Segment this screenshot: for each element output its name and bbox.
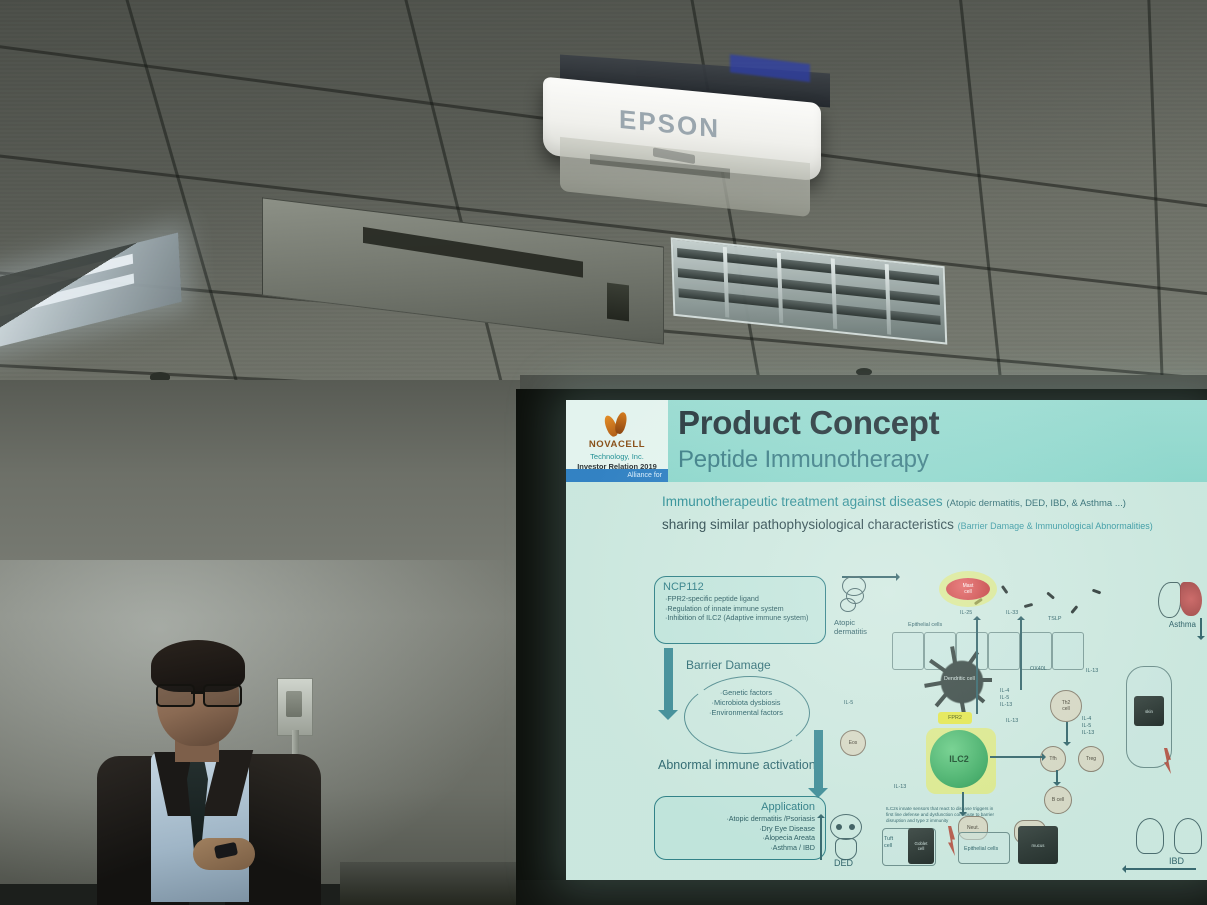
abnormal-activation-label: Abnormal immune activation xyxy=(658,758,816,772)
application-box: Application ·Atopic dermatitis /Psoriasi… xyxy=(654,796,826,860)
slide-title: Product Concept xyxy=(678,404,939,442)
novacell-leaf-icon xyxy=(604,412,630,438)
lead-line2-note: (Barrier Damage & Immunological Abnormal… xyxy=(958,521,1153,531)
brand-name: NOVACELL xyxy=(589,439,645,450)
asthma-arrow xyxy=(1200,618,1202,638)
mast-cell-node: Mastcell xyxy=(946,578,990,600)
tissue-dark-cell: skin xyxy=(1134,696,1164,726)
conference-room-photo: EPSON NOVACELL xyxy=(0,0,1207,905)
ibd-gut-icon xyxy=(1174,818,1202,854)
application-item: ·Alopecia Areata xyxy=(655,833,825,843)
lead-line1-main: Immunotherapeutic treatment against dise… xyxy=(662,494,946,509)
ibd-gut-icon xyxy=(1136,818,1164,854)
board-edge xyxy=(340,862,530,905)
disease-label-asthma: Asthma xyxy=(1169,620,1196,629)
b-cell-node: B cell xyxy=(1044,786,1072,814)
ded-arrow xyxy=(820,816,822,860)
connector xyxy=(1020,618,1022,690)
duct-knob xyxy=(607,283,629,322)
disease-label-atopic-dermatitis: Atopic dermatitis xyxy=(834,618,888,636)
eyeglasses-icon xyxy=(156,684,242,703)
slide-subtitle: Peptide Immunotherapy xyxy=(678,446,929,474)
diagram-caption: ILC2s innate sensors that react to disea… xyxy=(886,806,998,825)
projector-vent xyxy=(590,154,730,179)
ncp112-title: NCP112 xyxy=(655,577,825,594)
screen-bottom-bar xyxy=(516,880,1207,905)
atopic-dermatitis-icon xyxy=(836,574,874,616)
ncp112-item: ·Inhibition of ILC2 (Adaptive immune sys… xyxy=(655,613,825,623)
ded-face-icon xyxy=(828,814,862,858)
cycle-item: ·Environmental factors xyxy=(694,708,798,718)
application-title: Application xyxy=(655,797,825,814)
application-item: ·Atopic dermatitis /Psoriasis xyxy=(655,814,825,824)
slide-lead-text: Immunotherapeutic treatment against dise… xyxy=(662,492,1202,536)
ilc2-cell-node: ILC2 xyxy=(930,730,988,788)
ncp112-box: NCP112 ·FPR2-specific peptide ligand ·Re… xyxy=(654,576,826,644)
projected-slide: NOVACELL Technology, Inc. Investor Relat… xyxy=(566,400,1207,880)
ncp112-item: ·FPR2-specific peptide ligand xyxy=(655,594,825,604)
bottom-dark-cell: Gobletcell xyxy=(908,828,934,864)
bottom-dark-cell: mucus xyxy=(1018,826,1058,864)
ncp112-item: ·Regulation of innate immune system xyxy=(655,604,825,614)
presenter xyxy=(95,640,325,905)
ibd-arrow xyxy=(1124,868,1196,870)
disease-label-ibd: IBD xyxy=(1169,856,1184,866)
application-item: ·Asthma / IBD xyxy=(655,843,825,853)
flow-arrow-down-right xyxy=(814,730,823,788)
barrier-damage-label: Barrier Damage xyxy=(686,658,771,672)
cycle-item: ·Microbiota dysbiosis xyxy=(694,698,798,708)
connector xyxy=(990,756,1044,758)
connector xyxy=(1066,722,1068,744)
asthma-lung-icon xyxy=(1158,578,1204,618)
eosinophil-node: Eos xyxy=(840,730,866,756)
duct-slot xyxy=(363,227,583,278)
ceiling: EPSON xyxy=(0,0,1207,420)
cycle-factors: ·Genetic factors ·Microbiota dysbiosis ·… xyxy=(694,688,798,746)
lead-line1-note: (Atopic dermatitis, DED, IBD, & Asthma .… xyxy=(946,498,1126,509)
th2-cell-node: Th2cell xyxy=(1050,690,1082,722)
brand-blue-tab: Alliance for xyxy=(566,469,668,482)
novacell-logo-block: NOVACELL Technology, Inc. Investor Relat… xyxy=(566,400,668,482)
disease-label-ded: DED xyxy=(834,858,853,868)
cycle-item: ·Genetic factors xyxy=(694,688,798,698)
connector xyxy=(976,618,978,714)
lead-line2-main: sharing similar pathophysiological chara… xyxy=(662,517,958,532)
projector-brand-label: EPSON xyxy=(619,104,720,145)
application-item: ·Dry Eye Disease xyxy=(655,824,825,834)
pathway-diagram: Atopic dermatitis Asthma Epithelial cell… xyxy=(834,570,1206,870)
brand-tagline: Technology, Inc. xyxy=(590,452,644,461)
slide-header-band: NOVACELL Technology, Inc. Investor Relat… xyxy=(566,400,1207,482)
connector xyxy=(1056,770,1058,784)
flow-arrow-down-left xyxy=(664,648,673,710)
fpr2-receptor-label: FPR2 xyxy=(938,712,972,724)
inflammation-icon xyxy=(948,826,955,856)
treg-cell-node: Treg xyxy=(1078,746,1104,772)
